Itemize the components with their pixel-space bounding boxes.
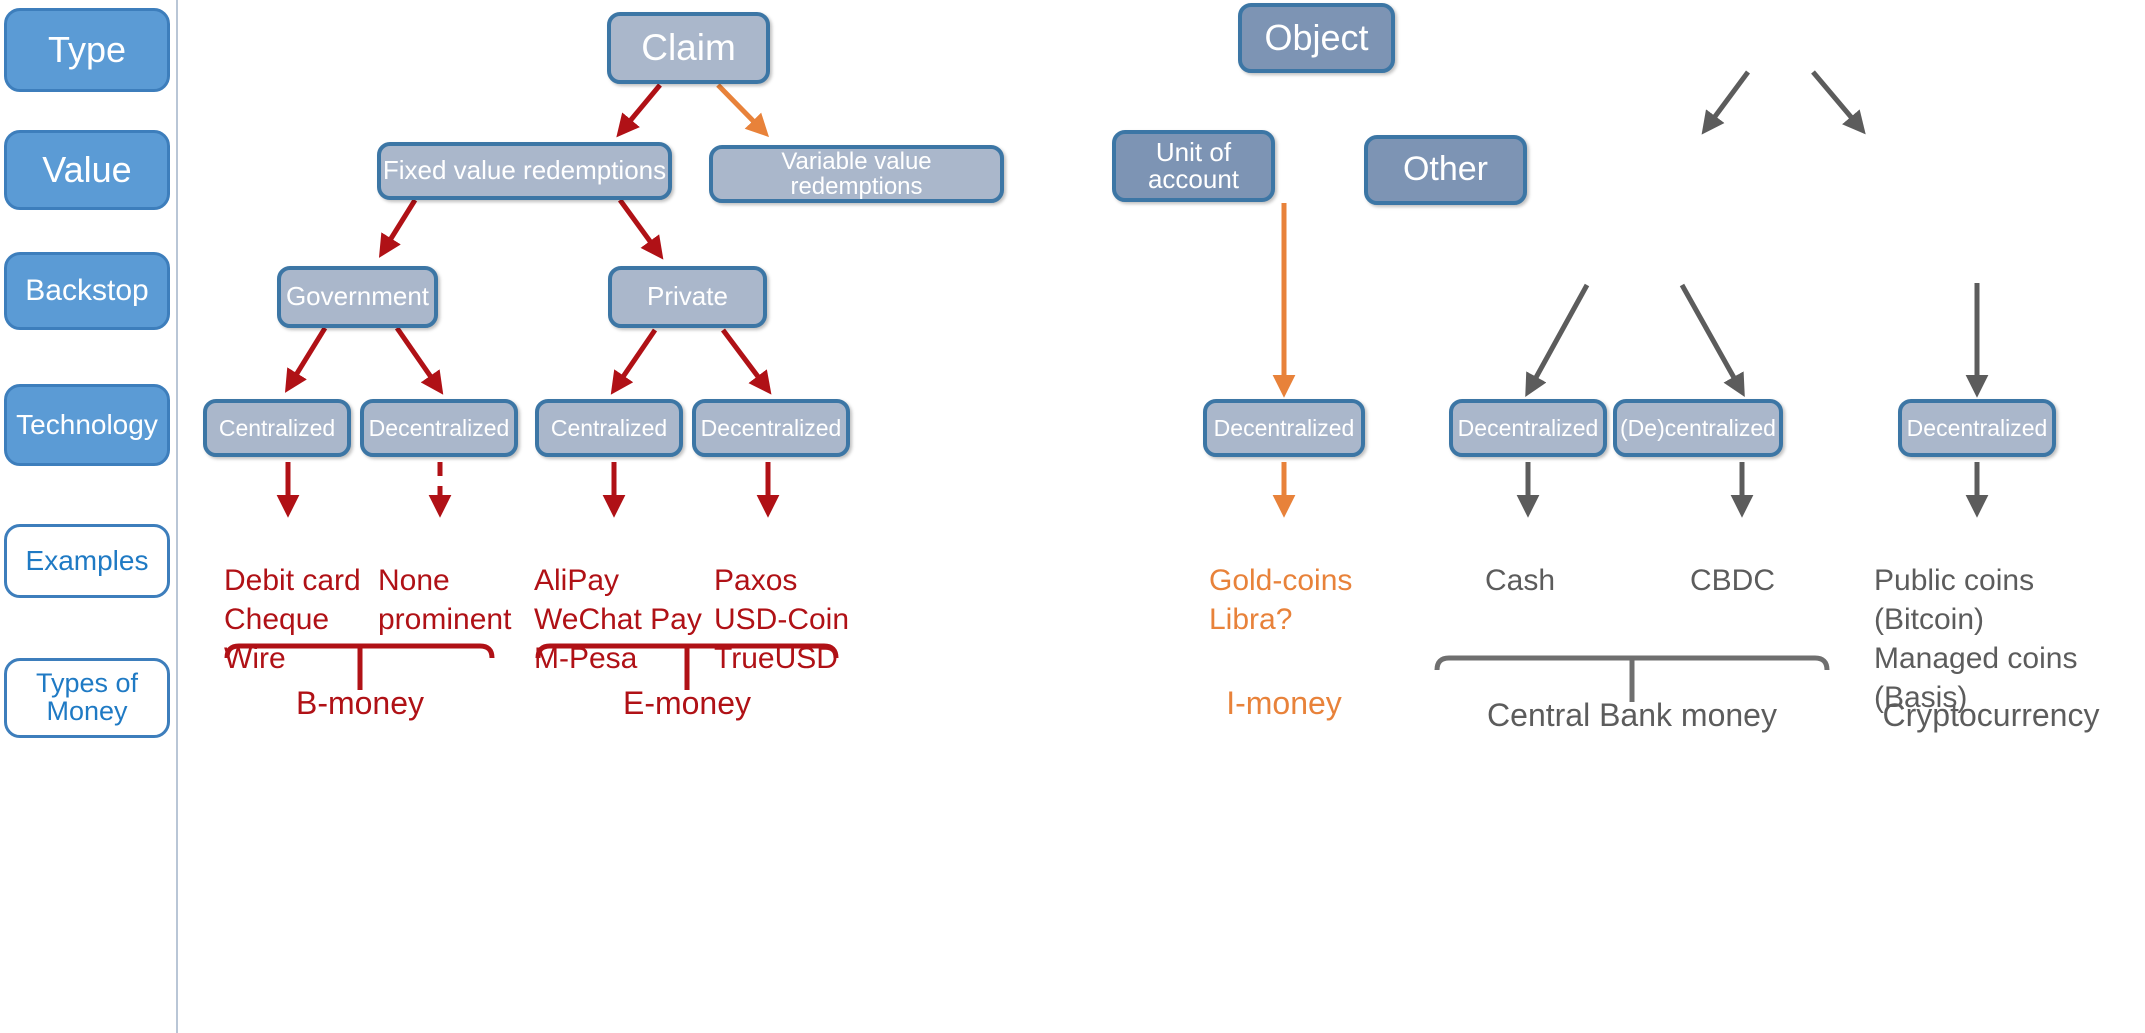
examples-text: Public coins (Bitcoin) Managed coins (Ba… [1874,564,2077,714]
node-label: Decentralized [1907,416,2048,440]
node-label: Fixed value redemptions [383,157,666,184]
node-label: Decentralized [1214,416,1355,440]
rail-item-label: Backstop [25,276,148,307]
money-label-text: I-money [1226,685,1342,721]
examples-text: Gold-coins Libra? [1209,564,1352,636]
arrow-uoa-to-decentralized [1528,285,1587,392]
node-label: Unit of account [1148,139,1239,194]
node-label: Centralized [551,416,667,440]
node-tech-government-centralized[interactable]: Centralized [203,399,351,457]
money-label-e-money: E-money [587,685,787,722]
connector-layer [0,0,2145,1033]
node-object[interactable]: Object [1238,3,1395,73]
node-government[interactable]: Government [277,266,438,328]
rail-item-technology[interactable]: Technology [4,384,170,466]
money-label-text: Cryptocurrency [1883,697,2100,733]
money-label-central-bank-money: Central Bank money [1462,697,1802,734]
arrow-claim-to-fixed [620,85,660,133]
rail-item-types-of-money[interactable]: Types of Money [4,658,170,738]
node-other[interactable]: Other [1364,135,1527,205]
money-label-b-money: B-money [260,685,460,722]
rail-item-label: Type [48,32,126,69]
examples-text: CBDC [1690,564,1775,597]
money-label-cryptocurrency: Cryptocurrency [1846,697,2136,734]
node-tech-other-decentralized[interactable]: Decentralized [1898,399,2056,457]
node-label: Other [1403,152,1488,188]
node-label: (De)centralized [1620,416,1776,440]
examples-cryptocurrency: Public coins (Bitcoin) Managed coins (Ba… [1874,522,2077,717]
node-unit-of-account[interactable]: Unit of account [1112,130,1275,202]
examples-text: None prominent [378,564,511,636]
arrow-object-to-unit-of-account [1705,72,1748,130]
rail-divider [176,0,178,1033]
node-tech-uoa-de-centralized[interactable]: (De)centralized [1613,399,1783,457]
node-claim[interactable]: Claim [607,12,770,84]
arrow-private-to-decentralized [723,330,768,390]
node-tech-government-decentralized[interactable]: Decentralized [360,399,518,457]
rail-item-label: Examples [26,547,149,576]
examples-cbdc: CBDC [1690,522,1775,600]
diagram-canvas: Type Value Backstop Technology Examples … [0,0,2145,1033]
node-label: Object [1264,19,1368,57]
arrow-fixed-to-private [620,200,660,255]
rail-item-label: Value [42,152,131,189]
rail-item-value[interactable]: Value [4,130,170,210]
node-label: Government [286,283,429,310]
arrow-claim-to-variable [718,85,765,133]
node-private[interactable]: Private [608,266,767,328]
rail-item-type[interactable]: Type [4,8,170,92]
arrow-object-to-other [1813,72,1862,130]
money-label-text: Central Bank money [1487,697,1777,733]
rail-item-label: Types of Money [36,670,138,725]
examples-text: Paxos USD-Coin TrueUSD [714,564,849,675]
node-variable-value-redemptions[interactable]: Variable value redemptions [709,145,1004,203]
examples-b-decentralized: None prominent [378,522,511,639]
node-tech-variable-decentralized[interactable]: Decentralized [1203,399,1365,457]
node-label: Variable value redemptions [713,149,1000,199]
money-label-text: E-money [623,685,751,721]
node-label: Centralized [219,416,335,440]
arrow-government-to-decentralized [397,328,440,390]
examples-text: AliPay WeChat Pay M-Pesa [534,564,702,675]
rail-item-backstop[interactable]: Backstop [4,252,170,330]
examples-e-centralized: AliPay WeChat Pay M-Pesa [534,522,702,678]
node-tech-uoa-decentralized[interactable]: Decentralized [1449,399,1607,457]
node-label: Decentralized [1458,416,1599,440]
node-label: Claim [641,29,736,68]
node-label: Decentralized [369,416,510,440]
examples-text: Debit card Cheque Wire [224,564,361,675]
examples-cash: Cash [1485,522,1555,600]
arrow-government-to-centralized [288,328,325,388]
node-label: Private [647,283,728,310]
node-tech-private-centralized[interactable]: Centralized [535,399,683,457]
rail-item-label: Technology [16,411,158,440]
arrow-uoa-to-de-centralized [1682,285,1742,392]
arrow-fixed-to-government [382,200,415,253]
examples-e-decentralized: Paxos USD-Coin TrueUSD [714,522,849,678]
node-tech-private-decentralized[interactable]: Decentralized [692,399,850,457]
examples-i-money: Gold-coins Libra? [1209,522,1352,639]
node-fixed-value-redemptions[interactable]: Fixed value redemptions [377,142,672,200]
examples-text: Cash [1485,564,1555,597]
rail-item-examples[interactable]: Examples [4,524,170,598]
node-label: Decentralized [701,416,842,440]
money-label-text: B-money [296,685,424,721]
arrow-private-to-centralized [614,330,655,390]
examples-b-centralized: Debit card Cheque Wire [224,522,361,678]
brace-central-bank-money [1437,658,1827,670]
money-label-i-money: I-money [1184,685,1384,722]
